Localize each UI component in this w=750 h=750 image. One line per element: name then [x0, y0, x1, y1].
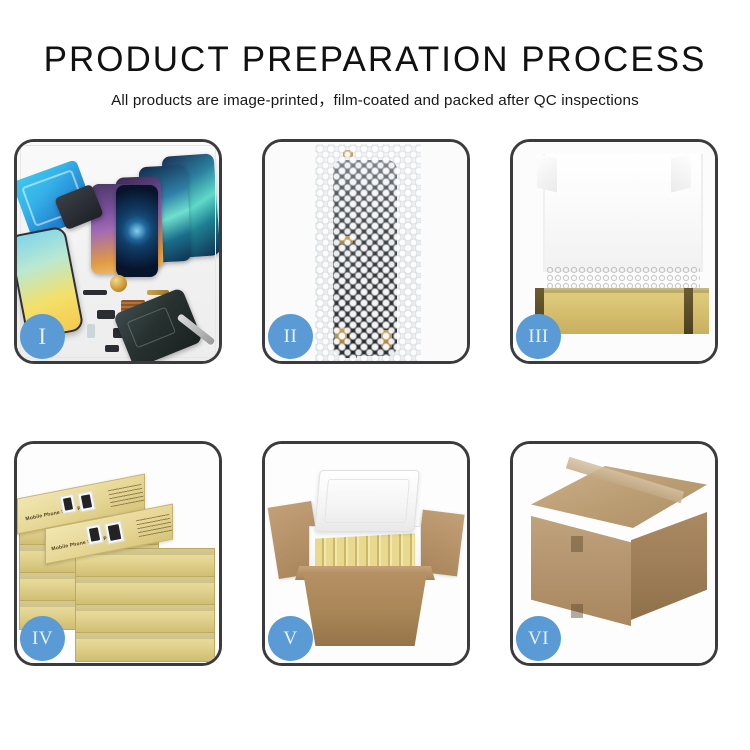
- step-badge-6: VI: [516, 616, 561, 661]
- part-taptic-coil: [110, 275, 127, 292]
- shipping-carton-seam-lower: [571, 604, 583, 618]
- step-badge-3: III: [516, 314, 561, 359]
- process-step-panel-3[interactable]: III: [510, 139, 718, 364]
- process-step-panel-1[interactable]: I: [14, 139, 222, 364]
- page-title: PRODUCT PREPARATION PROCESS: [0, 40, 750, 79]
- page-subtitle: All products are image-printed，film-coat…: [0, 88, 750, 110]
- box-tray-edge-right: [684, 288, 693, 334]
- box-lid-flap-left: [537, 154, 557, 193]
- page-header: PRODUCT PREPARATION PROCESS All products…: [0, 0, 750, 110]
- retail-box-r4: [75, 632, 215, 662]
- process-step-grid: I II: [14, 139, 736, 666]
- box-tray-yellow: [535, 288, 709, 334]
- step-badge-4: IV: [20, 616, 65, 661]
- step-badge-5: V: [268, 616, 313, 661]
- bubble-film-texture: [315, 144, 421, 361]
- part-connector: [105, 345, 119, 352]
- shipping-carton-seam-upper: [571, 536, 583, 552]
- process-step-panel-6[interactable]: VI: [510, 441, 718, 666]
- step-badge-2: II: [268, 314, 313, 359]
- carton-body: [303, 572, 427, 646]
- process-step-panel-2[interactable]: II: [262, 139, 470, 364]
- part-glass-lens: [87, 324, 95, 338]
- foam-box-lid: [314, 470, 419, 532]
- retail-box-r2: [75, 576, 215, 606]
- process-step-panel-5[interactable]: V: [262, 441, 470, 666]
- part-speaker-bar: [83, 290, 107, 295]
- retail-box-r3: [75, 604, 215, 634]
- step-badge-1: I: [20, 314, 65, 359]
- product-preparation-page: PRODUCT PREPARATION PROCESS All products…: [0, 0, 750, 750]
- part-camera-module: [97, 310, 115, 319]
- box-lid-flap-right: [671, 154, 691, 193]
- bubble-wrap-bag: [315, 144, 421, 361]
- process-step-panel-4[interactable]: Mobile Phone Spare Parts Mobile Phone Sp…: [14, 441, 222, 666]
